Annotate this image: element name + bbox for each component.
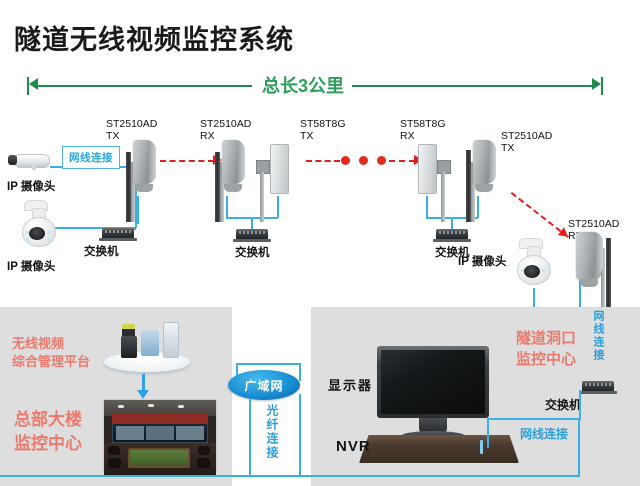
- cable-fiber-bottom: [249, 475, 301, 477]
- mast-4-rail: [441, 172, 445, 222]
- ip-camera-label-2: IP 摄像头: [7, 258, 55, 274]
- dome-lens-icon: [524, 265, 540, 278]
- device-label-1: ST2510AD TX: [106, 118, 157, 142]
- tunnel-center-title-line1: 隧道洞口: [516, 328, 576, 349]
- diagram-canvas: 隧道无线视频监控系统 总长3公里 ST2510AD TX ST2510AD RX…: [0, 0, 640, 486]
- wireless-dot-1: [341, 156, 350, 165]
- photo-screen-3: [176, 426, 204, 440]
- switch-device-1: [102, 228, 134, 239]
- switch-device-4: [582, 381, 614, 392]
- ip-camera-bullet-1: [6, 152, 52, 168]
- cable-wan-right-riser: [299, 363, 301, 381]
- ip-camera-dome-2: [513, 238, 553, 284]
- antenna-st58t8g-tx: [270, 144, 289, 194]
- length-line-left: [36, 85, 252, 87]
- length-left-arrowhead: [29, 78, 38, 90]
- total-length-label: 总长3公里: [262, 72, 344, 98]
- dome-led-4: [47, 238, 50, 241]
- antenna-st2510ad-rx-1: [222, 140, 244, 184]
- antenna-5-base: [475, 184, 493, 192]
- dome-led-1: [521, 269, 524, 272]
- device-label-3: ST58T8G TX: [300, 118, 346, 142]
- camera-lens-icon: [8, 155, 17, 165]
- wireless-dot-3: [377, 156, 386, 165]
- device-model-2: ST2510AD: [200, 118, 251, 130]
- server-rack-4: [163, 322, 179, 358]
- device-label-2: ST2510AD RX: [200, 118, 251, 142]
- photo-chair-1: [108, 446, 120, 455]
- cable-hq-bottom-run: [0, 475, 250, 477]
- device-label-5: ST2510AD TX: [501, 130, 552, 154]
- netcable-label-box: 网线连接: [62, 146, 120, 169]
- ip-camera-label-1: IP 摄像头: [7, 178, 55, 194]
- wireless-dot-2: [359, 156, 368, 165]
- switch-label-1: 交换机: [84, 243, 119, 259]
- wan-node: 广域网: [228, 370, 300, 400]
- page-title: 隧道无线视频监控系统: [14, 18, 294, 57]
- antenna-st58t8g-rx: [418, 144, 437, 194]
- dome-led-2: [542, 269, 545, 272]
- photo-table: [128, 448, 190, 468]
- dome-lens-icon: [29, 227, 45, 240]
- photo-light-3: [178, 405, 184, 408]
- cable-ap1-down: [137, 196, 139, 224]
- cable-ap4-down: [426, 196, 428, 218]
- netcable-label-bottom: 网线连接: [520, 425, 568, 442]
- cable-ap5-down: [477, 196, 479, 218]
- photo-chair-4: [197, 458, 210, 468]
- length-right-arrowhead: [592, 78, 601, 90]
- platform-label-line1: 无线视频: [12, 335, 90, 353]
- device-model-5: ST2510AD: [501, 130, 552, 142]
- cable-ap2-down: [226, 196, 228, 218]
- control-room-photo: [103, 399, 217, 477]
- cable-fiber-left: [249, 398, 251, 476]
- platform-arrow-head: [137, 390, 149, 399]
- device-role-4: RX: [400, 130, 446, 142]
- monitor-label: 显示器: [328, 375, 373, 394]
- antenna-st2510ad-rx-2: [576, 232, 602, 280]
- nvr-device: [359, 435, 519, 463]
- switch-label-4: 交换机: [545, 396, 581, 413]
- photo-light-1: [118, 405, 124, 408]
- device-model-4: ST58T8G: [400, 118, 446, 130]
- switch-label-3: 交换机: [435, 244, 470, 260]
- photo-screen-1: [116, 426, 144, 440]
- mast-6: [606, 238, 611, 310]
- antenna-2-base: [224, 184, 242, 192]
- ip-camera-dome-1: [18, 200, 58, 246]
- cable-fiber-right: [299, 394, 301, 476]
- device-label-4: ST58T8G RX: [400, 118, 446, 142]
- nvr-label: NVR: [336, 438, 371, 455]
- cable-nvr-riser: [487, 418, 489, 448]
- cable-bottom-riser: [578, 418, 580, 476]
- cable-wan-top: [236, 363, 300, 365]
- antenna-6-base: [580, 279, 598, 287]
- photo-chair-2: [108, 458, 121, 468]
- switch-device-2: [236, 229, 268, 240]
- antenna-st2510ad-tx-1: [133, 140, 155, 184]
- server-rack-3: [141, 330, 159, 356]
- hq-center-line1: 总部大楼: [14, 408, 82, 432]
- wireless-link-2b: [389, 160, 415, 162]
- length-line-right: [352, 85, 592, 87]
- photo-light-2: [148, 404, 154, 407]
- cable-nvr-to-switch: [487, 418, 579, 420]
- antenna-st2510ad-tx-2: [473, 140, 495, 184]
- wireless-link-2a: [306, 160, 340, 162]
- server-rack-2: [121, 336, 137, 358]
- platform-label: 无线视频 综合管理平台: [12, 335, 90, 371]
- device-model-3: ST58T8G: [300, 118, 346, 130]
- device-model-1: ST2510AD: [106, 118, 157, 130]
- cable-ap3-down: [277, 196, 279, 218]
- nvr-indicator: [480, 440, 483, 454]
- length-right-cap: [601, 77, 603, 95]
- netcable-label-vertical: 网线连接: [590, 310, 606, 362]
- fiber-label: 光纤连接: [264, 404, 281, 460]
- wireless-link-1: [160, 160, 214, 162]
- display-monitor: [377, 346, 489, 418]
- photo-screen-2: [146, 426, 174, 440]
- total-length-indicator: 总长3公里: [0, 72, 640, 98]
- switch-device-3: [436, 229, 468, 240]
- cable-bottom-run: [300, 475, 580, 477]
- photo-banner: [112, 414, 208, 423]
- cable-switch4-riser: [579, 390, 581, 420]
- device-role-3: TX: [300, 130, 346, 142]
- dome-led-3: [26, 238, 29, 241]
- hq-center-label: 总部大楼 监控中心: [14, 408, 82, 456]
- tunnel-center-title: 隧道洞口 监控中心: [516, 328, 576, 370]
- mast-3-rail: [260, 172, 264, 222]
- camera-mount: [32, 164, 36, 170]
- monitor-screen: [381, 350, 485, 414]
- photo-chair-3: [198, 446, 210, 455]
- device-role-5: TX: [501, 142, 552, 154]
- hq-center-line2: 监控中心: [14, 432, 82, 456]
- device-model-6: ST2510AD: [568, 218, 619, 230]
- platform-label-line2: 综合管理平台: [12, 353, 90, 371]
- dome-led-2: [47, 231, 50, 234]
- antenna-1-base: [135, 184, 153, 192]
- tunnel-center-title-line2: 监控中心: [516, 349, 576, 370]
- switch-label-2: 交换机: [235, 244, 270, 260]
- dome-led-1: [26, 231, 29, 234]
